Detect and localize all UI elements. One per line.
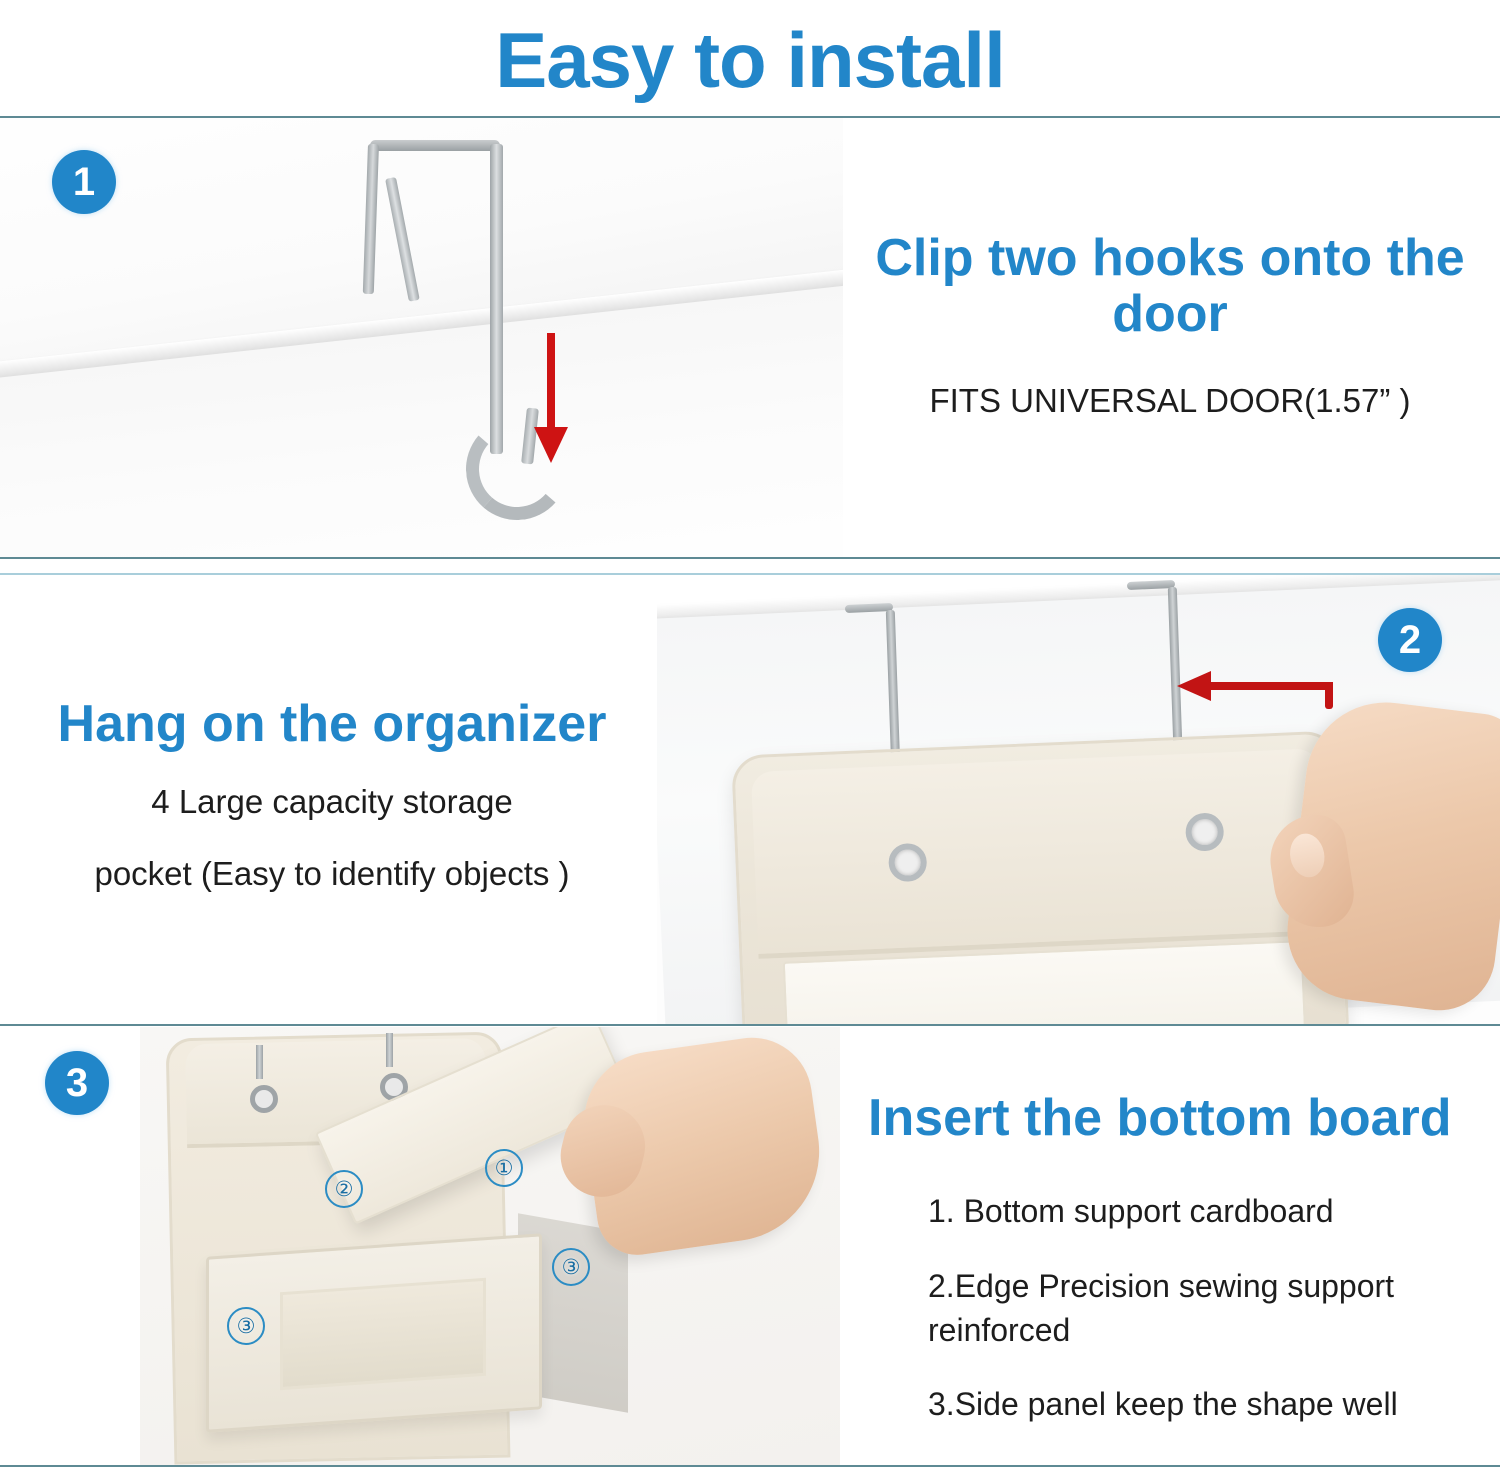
organizer-front-window — [280, 1278, 486, 1390]
step-1-badge: 1 — [52, 150, 116, 214]
left-arrow-icon — [1177, 671, 1347, 699]
step-2-subtext-line2: pocket (Easy to identify objects ) — [22, 851, 642, 898]
page-title-bar: Easy to install — [0, 3, 1500, 116]
step-3-bullet-1: 1. Bottom support cardboard — [928, 1193, 1493, 1230]
page-title: Easy to install — [495, 21, 1005, 99]
marker-2-icon: ② — [325, 1170, 363, 1208]
marker-1-icon: ① — [485, 1149, 523, 1187]
step-1-panel: 1 Clip two hooks onto the door FITS UNIV… — [0, 118, 1500, 558]
step-3-photo: ① ② ③ ③ — [140, 1027, 840, 1465]
down-arrow-icon — [542, 333, 560, 463]
step-3-bullet-2: 2.Edge Precision sewing support reinforc… — [928, 1264, 1493, 1352]
arrow-elbow — [1325, 683, 1333, 709]
hook-top-bar — [370, 140, 500, 151]
grommet-left — [250, 1085, 278, 1113]
step-2-heading: Hang on the organizer — [22, 697, 642, 753]
arrow-shaft — [1205, 682, 1333, 690]
step-1-photo — [0, 118, 843, 558]
step-3-bullet-3: 3.Side panel keep the shape well — [928, 1386, 1493, 1423]
divider-2 — [0, 1024, 1500, 1026]
organizer-body — [731, 730, 1349, 1024]
step-3-badge: 3 — [45, 1051, 109, 1115]
step-2-text: Hang on the organizer 4 Large capacity s… — [22, 697, 642, 898]
marker-3-left-icon: ③ — [227, 1307, 265, 1345]
divider-1 — [0, 557, 1500, 559]
marker-3-right-icon: ③ — [552, 1248, 590, 1286]
step-3-text: Insert the bottom board 1. Bottom suppor… — [868, 1091, 1493, 1423]
step-1-text: Clip two hooks onto the door FITS UNIVER… — [860, 231, 1480, 420]
hook-front-arm — [490, 144, 503, 454]
step-2-photo — [657, 575, 1500, 1024]
hook-strap-right — [386, 1033, 393, 1067]
step-3-panel: ① ② ③ ③ 3 Insert the bottom board 1. Bot… — [0, 1027, 1500, 1465]
step-2-panel: 2 Hang on the organizer 4 Large capacity… — [0, 575, 1500, 1024]
step-3-heading: Insert the bottom board — [868, 1091, 1493, 1147]
arrow-head — [534, 427, 568, 463]
hook-strap-left — [256, 1045, 263, 1079]
organizer-top-flap — [751, 748, 1326, 959]
arrow-shaft — [547, 333, 555, 433]
infographic-page: Easy to install 1 Clip two hooks onto th… — [0, 0, 1500, 1470]
step-2-badge: 2 — [1378, 608, 1442, 672]
step-2-subtext-line1: 4 Large capacity storage — [22, 779, 642, 826]
step-1-heading: Clip two hooks onto the door — [860, 231, 1480, 342]
step-1-subtext: FITS UNIVERSAL DOOR(1.57” ) — [860, 382, 1480, 420]
divider-bottom — [0, 1465, 1500, 1467]
